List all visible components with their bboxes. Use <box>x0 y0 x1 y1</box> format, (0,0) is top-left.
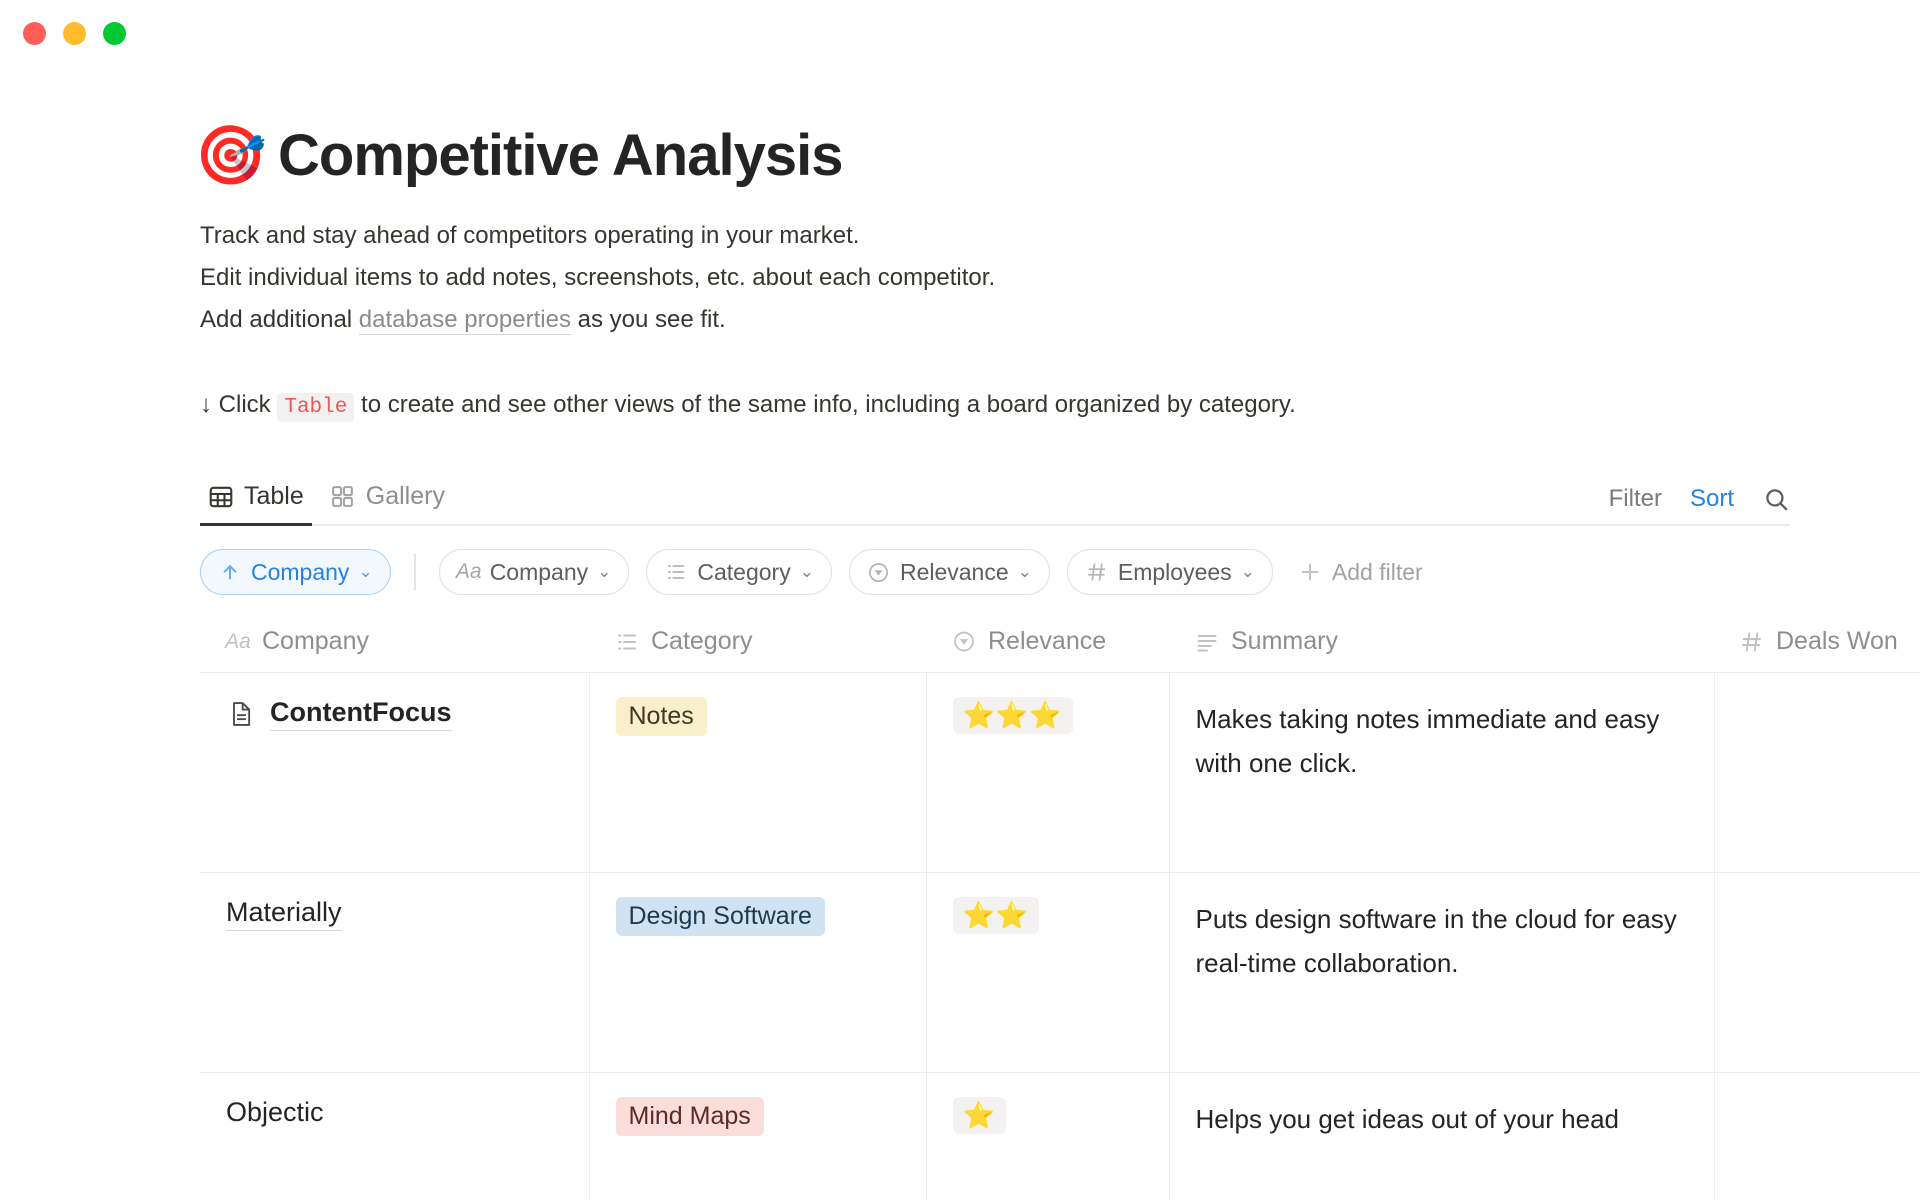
cell-deals-won[interactable]: 0 <box>1714 873 1920 1073</box>
number-property-icon <box>1740 630 1764 654</box>
table-header-row: Aa Company Category <box>200 617 1920 673</box>
gallery-icon <box>330 484 356 510</box>
column-header-company-label: Company <box>262 627 369 656</box>
filter-button[interactable]: Filter <box>1609 485 1662 513</box>
desc3-prefix: Add additional <box>200 306 359 333</box>
column-header-summary[interactable]: Summary <box>1169 617 1714 673</box>
filter-chip-employees[interactable]: Employees ⌄ <box>1067 549 1273 595</box>
cell-deals-won[interactable] <box>1714 1073 1920 1200</box>
column-header-company[interactable]: Aa Company <box>200 617 589 673</box>
database-table: Aa Company Category <box>200 617 1920 1200</box>
description-line-2: Edit individual items to add notes, scre… <box>200 257 1920 299</box>
category-tag: Mind Maps <box>616 1097 764 1136</box>
column-header-deals-won[interactable]: Deals Won <box>1714 617 1920 673</box>
cell-company[interactable]: Materially <box>200 873 589 1073</box>
plus-icon <box>1298 560 1322 584</box>
summary-text: Makes taking notes immediate and easy wi… <box>1196 697 1688 785</box>
window-titlebar <box>0 0 1920 62</box>
sort-chip-company[interactable]: Company ⌄ <box>200 549 391 595</box>
sort-button[interactable]: Sort <box>1690 485 1734 513</box>
chip-divider <box>414 554 416 590</box>
tab-gallery[interactable]: Gallery <box>322 482 453 524</box>
column-header-summary-label: Summary <box>1231 627 1338 656</box>
chevron-down-icon: ⌄ <box>800 562 814 582</box>
cell-company[interactable]: ContentFocus <box>200 673 589 873</box>
note-suffix: to create and see other views of the sam… <box>354 391 1295 418</box>
summary-text: Puts design software in the cloud for ea… <box>1196 897 1688 985</box>
table-row[interactable]: Materially Design Software ⭐⭐ Puts desig… <box>200 873 1920 1073</box>
table-code-chip: Table <box>277 393 354 422</box>
page-icon <box>226 699 256 729</box>
cell-summary[interactable]: Makes taking notes immediate and easy wi… <box>1169 673 1714 873</box>
filter-chip-category-label: Category <box>697 559 790 586</box>
filter-chip-row: Company ⌄ Aa Company ⌄ Category ⌄ <box>200 549 1920 595</box>
page-title[interactable]: Competitive Analysis <box>278 122 842 189</box>
note-prefix: ↓ Click <box>200 391 277 418</box>
add-filter-label: Add filter <box>1332 559 1423 586</box>
page-content: 🎯 Competitive Analysis Track and stay ah… <box>0 122 1920 1200</box>
chevron-down-icon: ⌄ <box>358 562 372 582</box>
filter-chip-relevance[interactable]: Relevance ⌄ <box>849 549 1050 595</box>
cell-relevance[interactable]: ⭐ <box>926 1073 1169 1200</box>
view-actions: Filter Sort <box>1609 485 1790 524</box>
tab-table-label: Table <box>244 482 304 511</box>
add-filter-button[interactable]: Add filter <box>1290 559 1423 586</box>
sort-chip-label: Company <box>251 559 349 586</box>
relevance-rating: ⭐ <box>953 1097 1006 1134</box>
company-link[interactable]: ContentFocus <box>270 697 452 731</box>
callout-note: ↓ Click Table to create and see other vi… <box>200 385 1920 428</box>
column-header-deals-won-label: Deals Won <box>1776 627 1898 656</box>
cell-company[interactable]: Objectic <box>200 1073 589 1200</box>
cell-summary[interactable]: Helps you get ideas out of your head <box>1169 1073 1714 1200</box>
filter-chip-category[interactable]: Category ⌄ <box>646 549 832 595</box>
view-tabbar: Table Gallery Filter Sort <box>200 470 1790 526</box>
minimize-button[interactable] <box>63 22 86 45</box>
cell-category[interactable]: Design Software <box>589 873 926 1073</box>
status-property-icon <box>867 560 891 584</box>
tab-table[interactable]: Table <box>200 482 312 524</box>
zoom-button[interactable] <box>103 22 126 45</box>
column-header-category-label: Category <box>651 627 752 656</box>
filter-chip-relevance-label: Relevance <box>900 559 1009 586</box>
company-link[interactable]: Materially <box>226 897 342 931</box>
filter-chip-employees-label: Employees <box>1118 559 1232 586</box>
description-line-3: Add additional database properties as yo… <box>200 299 1920 341</box>
filter-chip-company-label: Company <box>490 559 588 586</box>
description-line-1: Track and stay ahead of competitors oper… <box>200 215 1920 257</box>
table-row[interactable]: ContentFocus Notes ⭐⭐⭐ Makes taking note… <box>200 673 1920 873</box>
cell-relevance[interactable]: ⭐⭐⭐ <box>926 673 1169 873</box>
view-tab-list: Table Gallery <box>200 482 453 524</box>
database-properties-link[interactable]: database properties <box>359 306 571 335</box>
column-header-relevance[interactable]: Relevance <box>926 617 1169 673</box>
chevron-down-icon: ⌄ <box>597 562 611 582</box>
chevron-down-icon: ⌄ <box>1018 562 1032 582</box>
page-description: Track and stay ahead of competitors oper… <box>200 215 1920 341</box>
filter-chip-company[interactable]: Aa Company ⌄ <box>439 549 630 595</box>
category-tag: Design Software <box>616 897 825 936</box>
desc3-suffix: as you see fit. <box>571 306 726 333</box>
text-property-icon: Aa <box>457 560 481 584</box>
relevance-rating: ⭐⭐ <box>953 897 1040 934</box>
select-property-icon <box>664 560 688 584</box>
summary-text: Helps you get ideas out of your head <box>1196 1097 1688 1141</box>
target-emoji-icon: 🎯 <box>200 125 262 187</box>
cell-deals-won[interactable]: 1 <box>1714 673 1920 873</box>
cell-category[interactable]: Notes <box>589 673 926 873</box>
arrow-up-icon <box>218 560 242 584</box>
status-property-icon <box>952 630 976 654</box>
table-row[interactable]: Objectic Mind Maps ⭐ Helps you get ideas… <box>200 1073 1920 1200</box>
page-title-row: 🎯 Competitive Analysis <box>200 122 1920 189</box>
column-header-category[interactable]: Category <box>589 617 926 673</box>
number-property-icon <box>1085 560 1109 584</box>
tab-gallery-label: Gallery <box>366 482 445 511</box>
relevance-rating: ⭐⭐⭐ <box>953 697 1073 734</box>
close-button[interactable] <box>23 22 46 45</box>
deals-won-value: 1 <box>1741 697 1920 728</box>
column-header-relevance-label: Relevance <box>988 627 1106 656</box>
chevron-down-icon: ⌄ <box>1241 562 1255 582</box>
textblock-property-icon <box>1195 630 1219 654</box>
cell-category[interactable]: Mind Maps <box>589 1073 926 1200</box>
company-link[interactable]: Objectic <box>226 1097 324 1130</box>
cell-summary[interactable]: Puts design software in the cloud for ea… <box>1169 873 1714 1073</box>
window-traffic-lights <box>23 22 126 45</box>
table-icon <box>208 484 234 510</box>
category-tag: Notes <box>616 697 707 736</box>
search-icon[interactable] <box>1762 485 1790 513</box>
select-property-icon <box>615 630 639 654</box>
deals-won-value: 0 <box>1741 897 1920 928</box>
text-property-icon: Aa <box>226 630 250 654</box>
cell-relevance[interactable]: ⭐⭐ <box>926 873 1169 1073</box>
